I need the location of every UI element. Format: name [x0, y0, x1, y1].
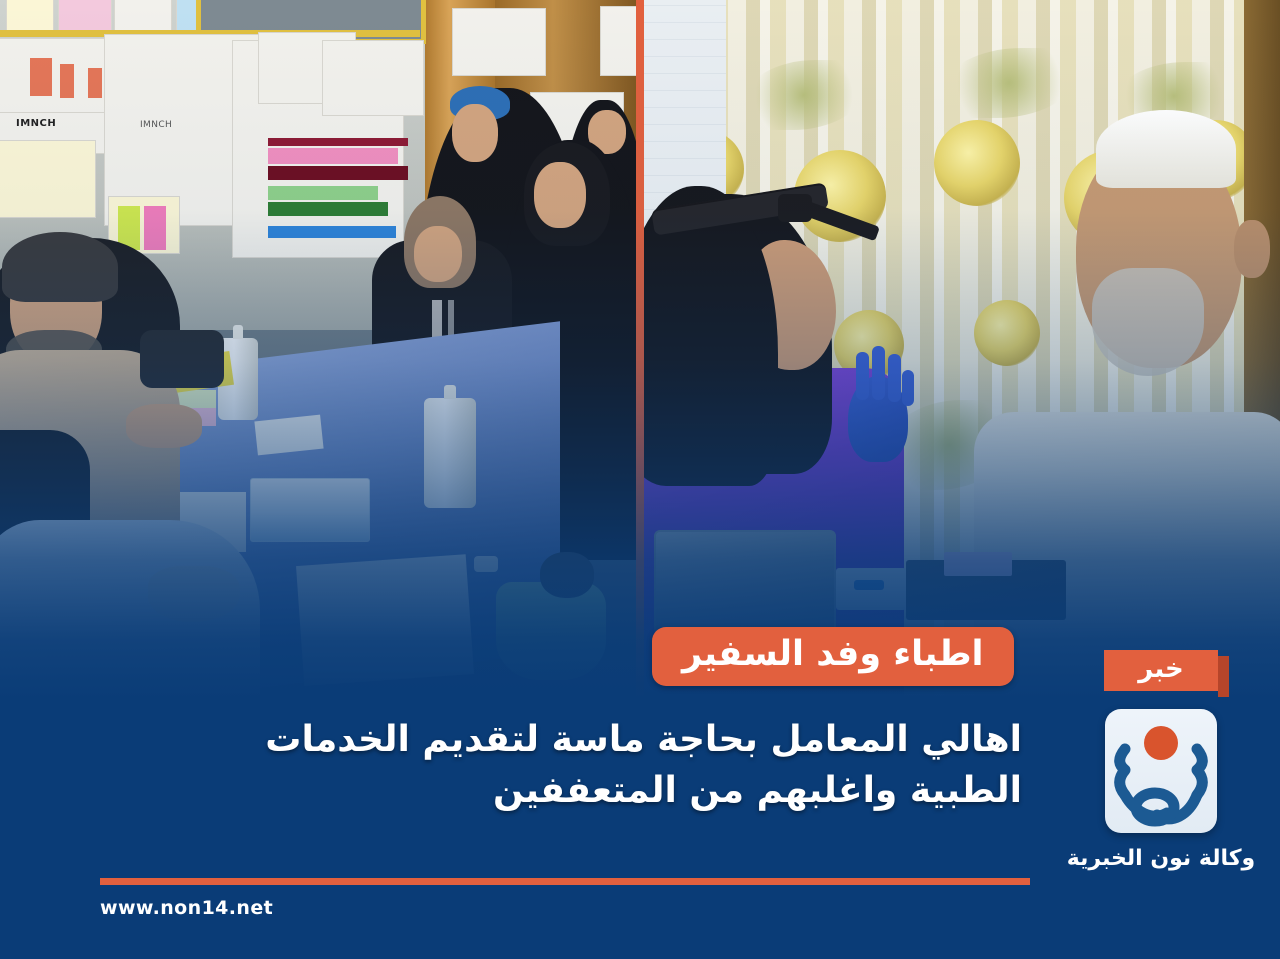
hand: [126, 404, 202, 448]
hand-holding-bag: [540, 552, 594, 598]
face: [414, 226, 462, 282]
head-lamp-mount: [778, 194, 812, 222]
website-url[interactable]: www.non14.net: [100, 897, 273, 919]
chart-bar: [268, 226, 396, 238]
door-paper: [600, 6, 636, 76]
bottle-cap: [474, 556, 498, 572]
pink-note: [944, 552, 1012, 576]
plastic-bag: [496, 582, 606, 680]
ear: [1234, 220, 1270, 278]
tissue-box: [250, 478, 370, 542]
brand-block: خبر وكالة نون الخبرية: [1046, 650, 1276, 871]
door-paper: [452, 8, 546, 76]
glove-thumb: [902, 370, 914, 406]
hair: [2, 232, 118, 302]
chart-bar: [268, 148, 398, 164]
poster-color-block: [30, 58, 52, 96]
curtain-rose: [934, 120, 1020, 206]
sanitizer-bottle: [424, 398, 476, 508]
wall-paper: [6, 0, 54, 32]
blue-marker: [854, 580, 884, 590]
chart-bar: [268, 138, 408, 146]
poster-color-block: [88, 68, 102, 98]
chart-bar: [268, 202, 388, 216]
glove-finger: [856, 352, 869, 400]
wall-poster: [322, 40, 424, 116]
noon-letterform-icon: [1105, 739, 1217, 831]
bag: [140, 330, 224, 388]
news-graphic-canvas: IMNCH IMNCH: [0, 0, 1280, 959]
skull-cap: [1096, 110, 1236, 188]
news-badge: خبر: [1104, 650, 1218, 691]
poster-label-imnch: IMNCH: [16, 118, 56, 129]
photo-left-clinic-desk: IMNCH IMNCH: [0, 0, 636, 720]
orange-rule: [100, 878, 1030, 885]
beard: [1092, 268, 1204, 376]
person-white-coat: [0, 520, 260, 720]
metal-tray: [654, 530, 836, 634]
headline-text: اهالي المعامل بحاجة ماسة لتقديم الخدمات …: [232, 714, 1022, 816]
kicker-badge: اطباء وفد السفير: [652, 627, 1014, 686]
chart-bar: [268, 166, 408, 180]
paper-sheet: [254, 415, 323, 456]
paper-sheet: [296, 554, 474, 686]
poster-color-block: [60, 64, 74, 98]
face: [452, 104, 498, 162]
gloved-hand: [148, 566, 240, 622]
glove-finger: [872, 346, 885, 400]
wall-paper: [58, 0, 112, 32]
wall-paper: [114, 0, 172, 34]
chart-bar: [268, 186, 378, 200]
photo-right-doctor-patient: [644, 0, 1280, 720]
agency-name: وكالة نون الخبرية: [1046, 846, 1276, 871]
noon-agency-logo-icon: [1105, 709, 1217, 833]
poster-label-imnch: IMNCH: [140, 120, 172, 130]
curtain-rose: [974, 300, 1040, 366]
face: [534, 162, 586, 228]
photo-divider: [636, 0, 644, 720]
wall-poster-yellow: [0, 140, 96, 218]
photo-collage: IMNCH IMNCH: [0, 0, 1280, 720]
glove-finger: [888, 354, 901, 402]
poster-color-block: [144, 206, 166, 250]
